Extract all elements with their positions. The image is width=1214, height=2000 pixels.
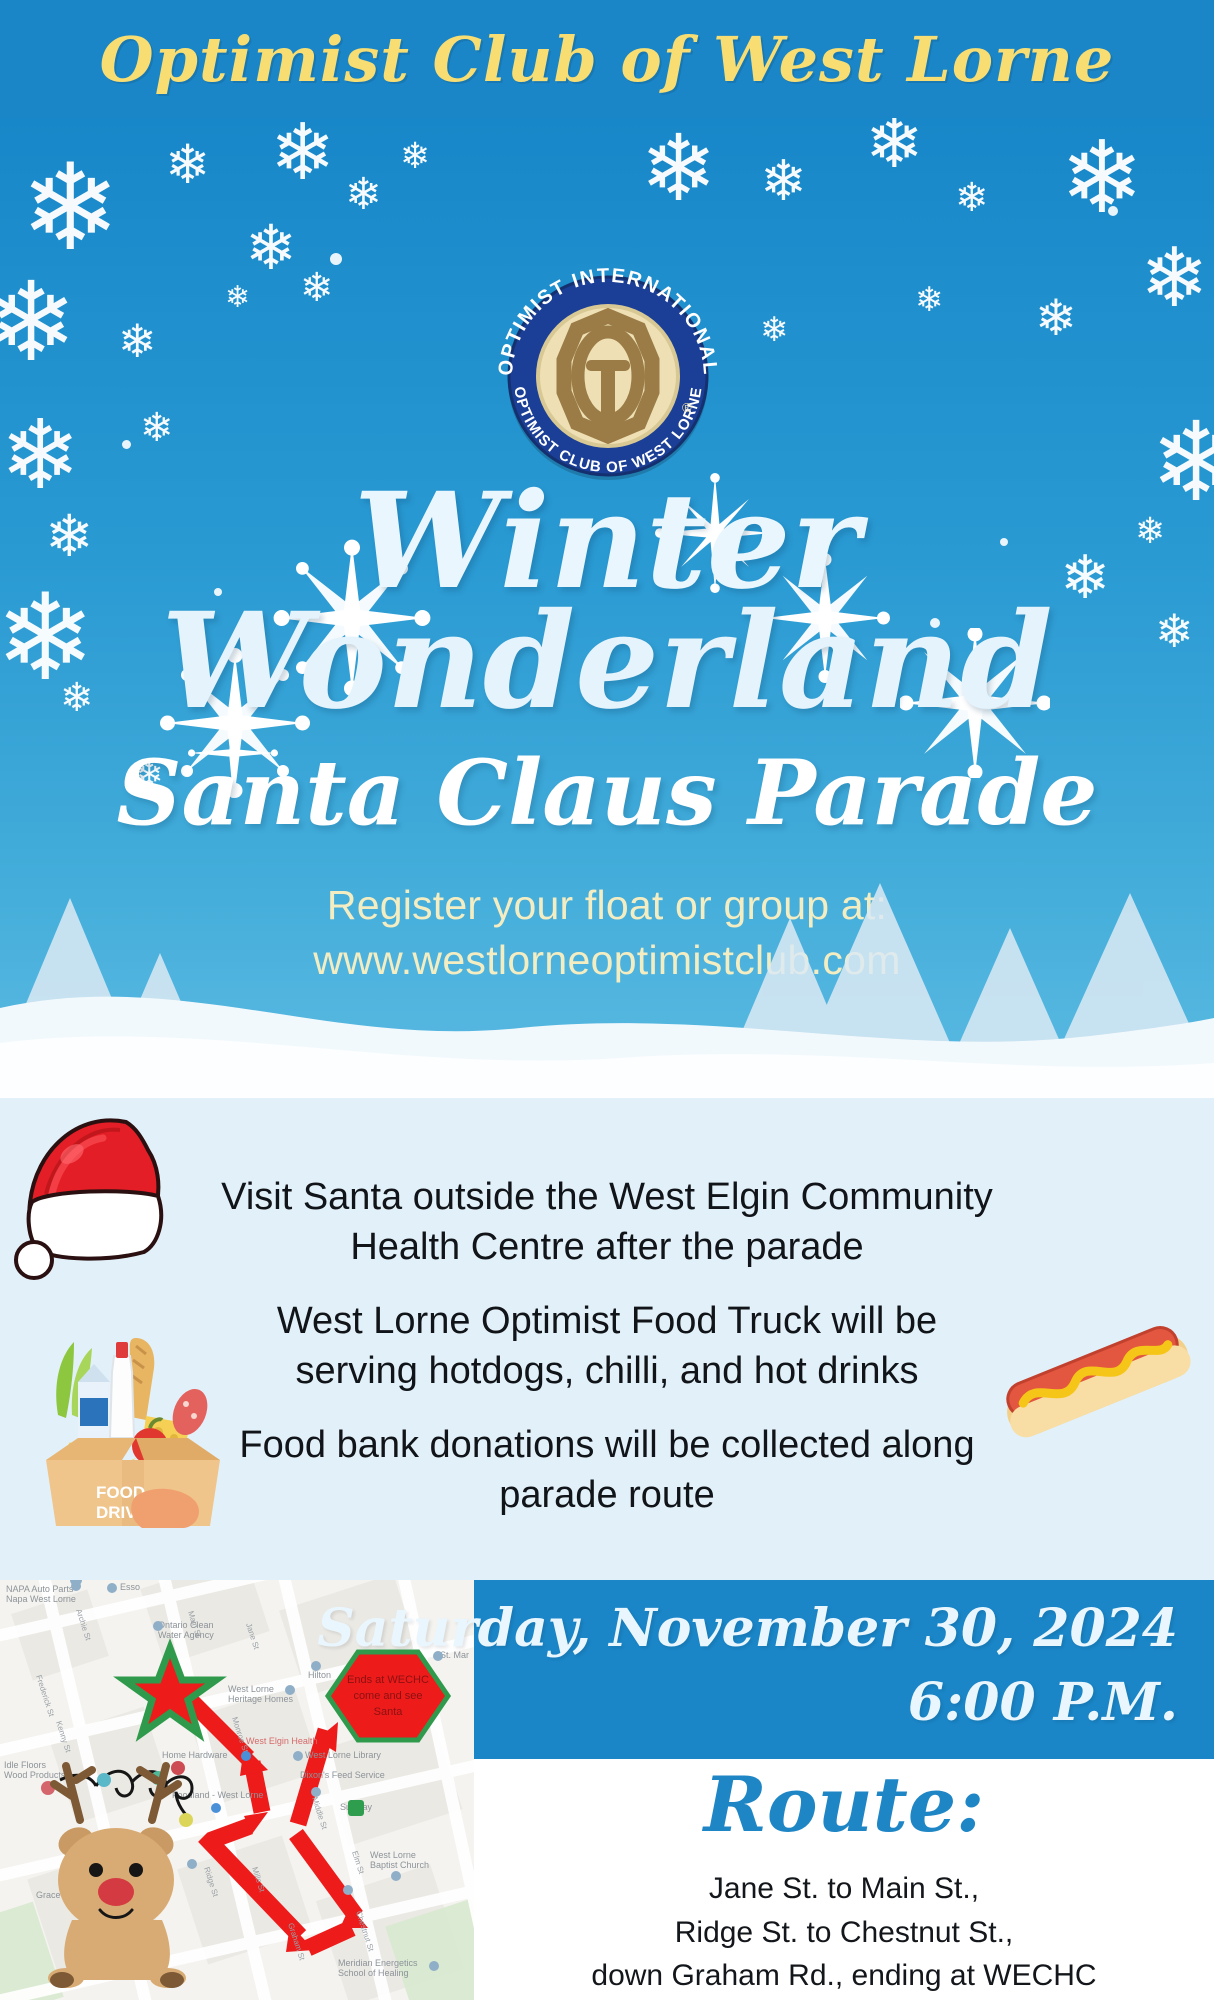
svg-text:Heritage Homes: Heritage Homes [228,1694,294,1704]
snow-dot [1108,206,1118,216]
svg-text:Napa West Lorne: Napa West Lorne [6,1594,76,1604]
subtitle-santa-claus-parade: Santa Claus Parade [0,748,1214,838]
svg-text:West Lorne: West Lorne [228,1684,274,1694]
header-band: Optimist Club of West Lorne [0,0,1214,118]
snowflake-icon: ❄ [640,123,717,215]
svg-text:come and see: come and see [353,1690,422,1702]
svg-text:Hilton: Hilton [308,1670,331,1680]
registered-mark: ® [682,400,692,415]
santa-hat-icon [8,1110,238,1280]
snowflake-icon: ❄ [270,118,335,191]
schedule-band: Saturday, November 30, 2024 6:00 P.M. [474,1580,1214,1759]
svg-text:NAPA Auto Parts -: NAPA Auto Parts - [6,1584,79,1594]
club-title: Optimist Club of West Lorne [100,23,1115,96]
svg-text:Ends at WECHC: Ends at WECHC [347,1674,429,1686]
optimist-international-logo: OPTIMIST INTERNATIONAL OPTIMIST CLUB OF … [482,260,734,482]
hotdog-icon [995,1318,1200,1448]
route-section: Route: Jane St. to Main St., Ridge St. t… [474,1759,1214,2000]
route-line-3: down Graham Rd., ending at WECHC [474,1954,1214,1998]
snowflake-icon: ❄ [760,313,789,347]
parade-time: 6:00 P.M. [908,1672,1178,1733]
svg-text:School of Healing: School of Healing [338,1968,409,1978]
svg-text:Santa: Santa [374,1706,404,1718]
svg-text:Wood Products: Wood Products [4,1770,66,1780]
snowflake-icon: ❄ [1060,128,1144,228]
snowflake-icon: ❄ [140,408,174,448]
svg-text:Esso: Esso [120,1582,140,1592]
snowflake-icon: ❄ [20,148,121,268]
snowflake-icon: ❄ [865,118,924,178]
snowflake-icon: ❄ [760,153,807,209]
snowflake-icon: ❄ [1035,293,1077,343]
parade-date: Saturday, November 30, 2024 [317,1598,1178,1659]
snow-dot [122,440,131,449]
snowflake-icon: ❄ [915,283,944,317]
svg-text:Ontario Clean: Ontario Clean [158,1620,214,1630]
svg-text:Idle Floors: Idle Floors [4,1760,47,1770]
snowflake-icon: ❄ [225,283,250,313]
snowflake-icon: ❄ [345,173,382,217]
svg-text:Meridian Energetics: Meridian Energetics [338,1958,418,1968]
snowflake-icon: ❄ [165,138,210,192]
svg-text:Dixon's Feed Service: Dixon's Feed Service [300,1770,385,1780]
svg-text:Water Agency: Water Agency [158,1630,214,1640]
poster-root: Optimist Club of West Lorne ❄ ❄ ❄ ❄ ❄ ❄ … [0,0,1214,2000]
snowflake-icon: ❄ [118,318,157,364]
route-heading: Route: [474,1763,1214,1847]
hero-section: ❄ ❄ ❄ ❄ ❄ ❄ ❄ ❄ ❄ ❄ ❄ ❄ ❄ ❄ ❄ ❄ ❄ ❄ ❄ ❄ … [0,118,1214,1098]
route-lines: Jane St. to Main St., Ridge St. to Chest… [474,1867,1214,1998]
svg-text:West Lorne Library: West Lorne Library [305,1750,381,1760]
end-marker: Ends at WECHC come and see Santa [328,1652,448,1740]
snowflake-icon: ❄ [245,218,297,280]
route-line-2: Ridge St. to Chestnut St., [474,1911,1214,1955]
snowflake-icon: ❄ [400,138,430,174]
snow-dot [330,253,342,265]
food-drive-box-icon: FOOD DRIVE [18,1320,248,1530]
snowflake-icon: ❄ [955,178,989,218]
snowflake-icon: ❄ [0,268,77,378]
snow-ground [0,858,1214,1098]
svg-text:Baptist Church: Baptist Church [370,1860,429,1870]
route-line-1: Jane St. to Main St., [474,1867,1214,1911]
svg-text:West Elgin Health: West Elgin Health [246,1736,317,1746]
title-wonderland: Wonderland [0,596,1214,728]
svg-text:Home Hardware: Home Hardware [162,1750,228,1760]
svg-text:West Lorne: West Lorne [370,1850,416,1860]
snowflake-icon: ❄ [300,268,334,308]
snowflake-icon: ❄ [1140,238,1209,320]
